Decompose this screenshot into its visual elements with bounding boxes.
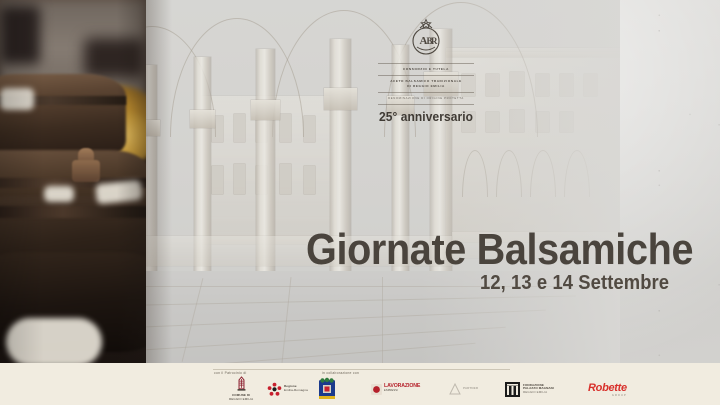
- patronage-label: con il Patrocinio di: [214, 371, 247, 375]
- poster-dates: 12, 13 e 14 Settembre: [480, 272, 669, 294]
- anniversary-text: 25° anniversario: [365, 109, 486, 124]
- emblem-caption: CONSORZIO E TUTELA ACETO BALSAMICO TRADI…: [360, 63, 492, 105]
- collaboration-label: in collaborazione con: [322, 371, 359, 375]
- emblem-rule-mid: [378, 75, 474, 76]
- emblem-rule-low: [378, 92, 474, 93]
- svg-text:R: R: [431, 36, 438, 46]
- espressi-logo-line2: ESPRESSI: [384, 389, 420, 393]
- provincia-reggio-emilia-crest-logo: [317, 376, 337, 402]
- partner-grey-logo: PARTNER: [449, 376, 478, 402]
- barrel-cellar-photo: [0, 0, 146, 363]
- consortium-emblem-block: A B R CONSORZIO E TUTELA ACETO BALSAMICO…: [360, 16, 492, 124]
- comune-crest-icon: [233, 376, 250, 393]
- partner-mark-icon: [449, 383, 461, 396]
- provincia-crest-icon: [317, 377, 337, 401]
- comune-logo-line2: REGGIO EMILIA: [229, 398, 253, 402]
- magnani-logo-line3: REGGIO EMILIA: [523, 391, 554, 395]
- palazzo-magnani-mark-icon: [505, 382, 520, 397]
- sponsor-logo-row: COMUNE DI REGGIO EMILIA Regione Emilia-R…: [213, 376, 513, 402]
- robette-subtext: GROUP: [612, 394, 627, 397]
- regione-emilia-romagna-logo: Regione Emilia-Romagna: [267, 376, 308, 402]
- sponsor-footer-bar: con il Patrocinio di in collaborazione c…: [0, 363, 720, 405]
- emblem-line-1: CONSORZIO E TUTELA: [360, 67, 492, 72]
- partner-logo-line1: PARTNER: [463, 387, 478, 391]
- emblem-line-4: DENOMINAZIONE DI ORIGINE PROTETTA: [360, 96, 492, 101]
- comune-di-reggio-emilia-logo: COMUNE DI REGGIO EMILIA: [229, 376, 253, 402]
- robette-wordmark: Robette: [588, 382, 627, 394]
- abr-monogram-crest-icon: A B R: [406, 16, 446, 58]
- emblem-rule-bottom: [378, 104, 474, 105]
- footer-divider: [213, 369, 510, 370]
- fondazione-palazzo-magnani-logo: FONDAZIONE PALAZZO MAGNANI REGGIO EMILIA: [505, 376, 554, 402]
- lavorazione-espressi-logo: LAVORAZIONE ESPRESSI: [371, 376, 420, 402]
- espressi-mark-icon: [371, 383, 382, 396]
- emblem-line-3: DI REGGIO EMILIA: [360, 84, 492, 89]
- robette-logo: Robette GROUP: [588, 376, 627, 402]
- poster-title: Giornate Balsamiche: [306, 228, 693, 272]
- regione-logo-line2: Emilia-Romagna: [284, 389, 308, 393]
- regione-flower-icon: [267, 382, 282, 397]
- poster-canvas: A B R CONSORZIO E TUTELA ACETO BALSAMICO…: [0, 0, 720, 405]
- emblem-rule-top: [378, 63, 474, 64]
